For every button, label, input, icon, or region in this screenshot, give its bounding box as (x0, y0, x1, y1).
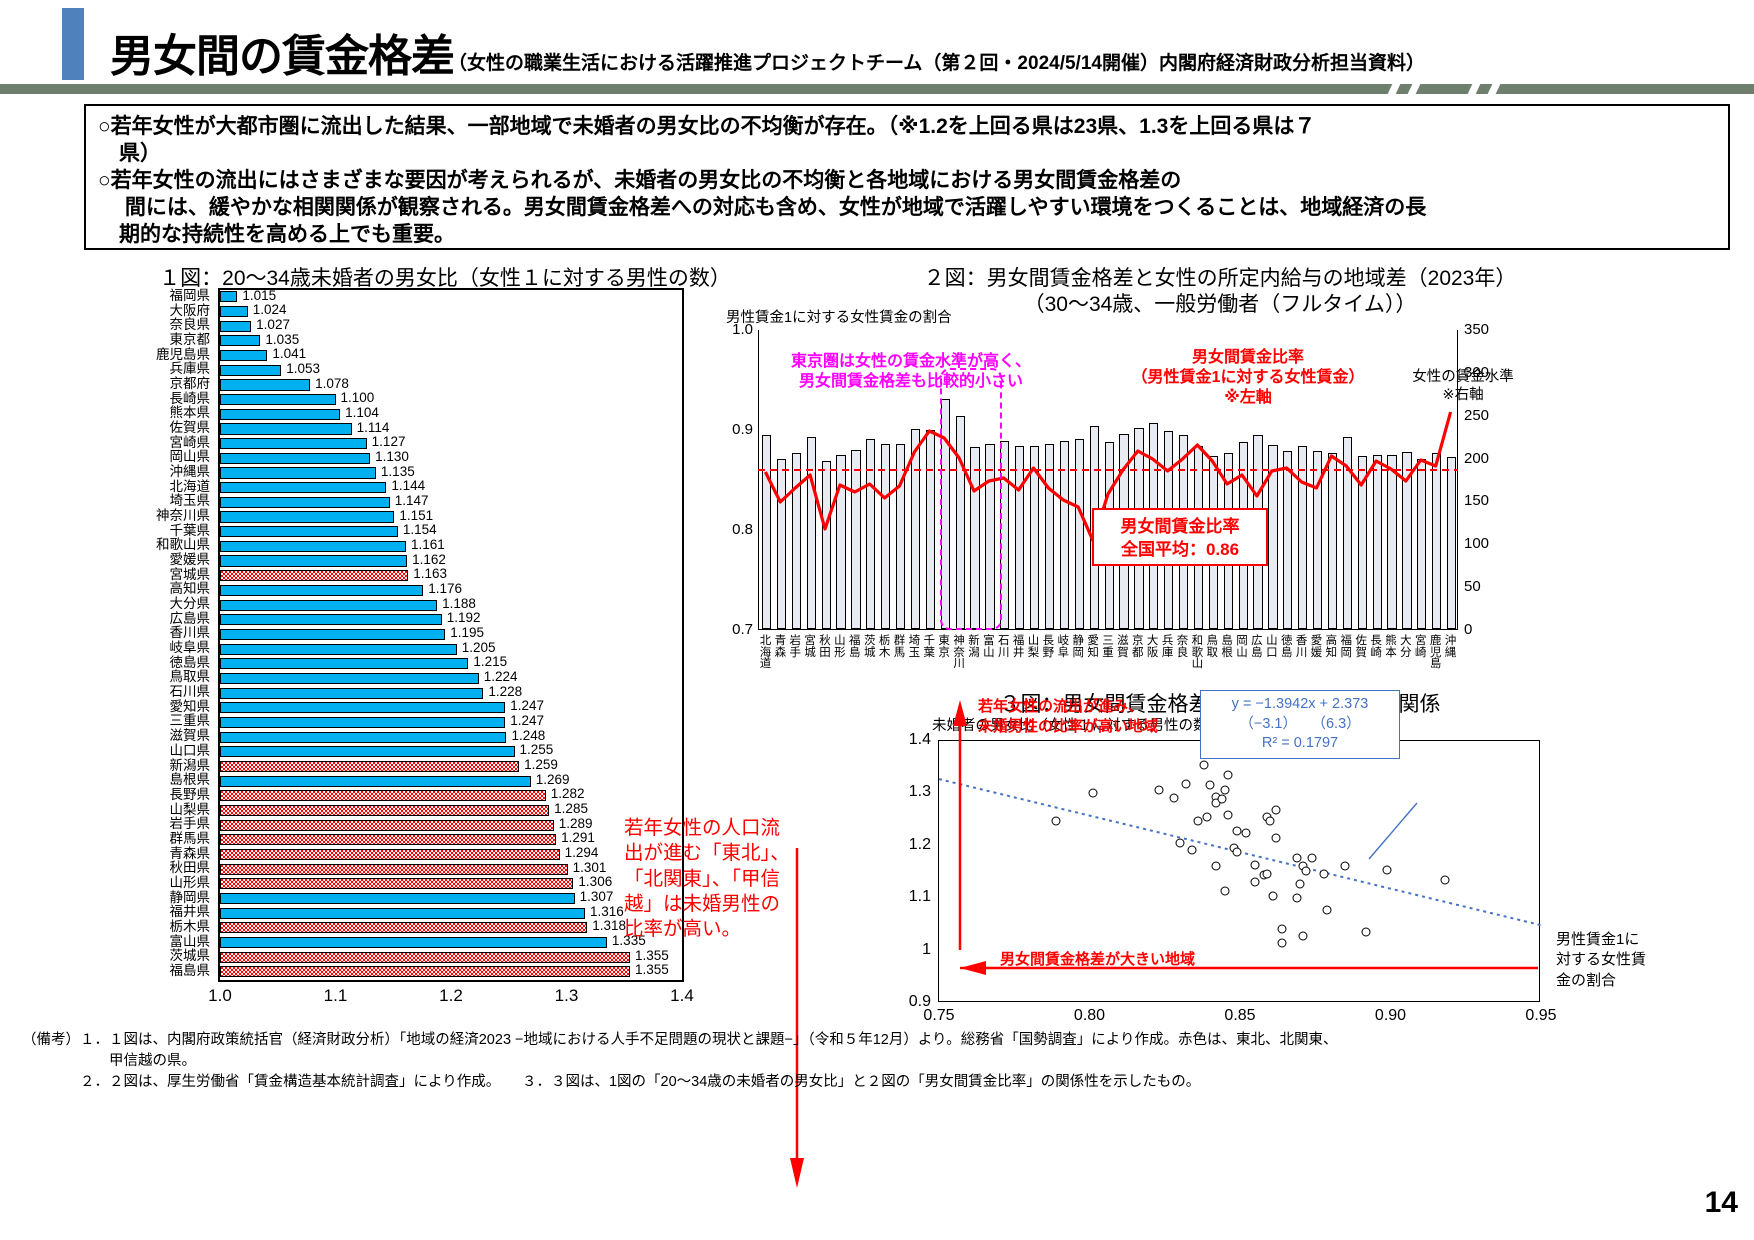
fig1-bar (220, 350, 267, 361)
fig2-x-label: 福井 (1012, 636, 1026, 659)
fig2-x-label: 島根 (1220, 636, 1234, 659)
fig1-bar (220, 482, 386, 493)
fig1-category-label: 沖縄県 (114, 465, 210, 480)
fig1-bar-row: 岡山県1.130 (220, 451, 682, 466)
fig1-bar-row: 石川県1.228 (220, 686, 682, 701)
page-title: 男女間の賃金格差 (110, 20, 454, 84)
fig3-y-tick: 1.3 (897, 783, 931, 801)
fig1-category-label: 千葉県 (114, 524, 210, 539)
fig1-chart: 福岡県1.015大阪府1.024奈良県1.027東京都1.035鹿児島県1.04… (118, 288, 688, 1003)
fig3-up-arrow (952, 700, 968, 950)
fig1-bar (220, 335, 260, 346)
fig3-data-point (1217, 795, 1226, 804)
fig3-data-point (1052, 817, 1061, 826)
fig3-data-point (1320, 869, 1329, 878)
fig2-x-label: 千葉 (922, 636, 936, 659)
fig3-right-axis-note: 男性賃金1に 対する女性賃 金の割合 (1556, 930, 1686, 991)
fig2-y-axis-label: 男性賃金1に対する女性賃金の割合 (726, 306, 952, 327)
summary-box: ○若年女性が大都市圏に流出した結果、一部地域で未婚者の男女比の不均衡が存在。（※… (84, 104, 1730, 250)
fig1-bar (220, 673, 479, 684)
fig1-bar-row: 沖縄県1.135 (220, 466, 682, 481)
fig1-bar-row: 和歌山県1.161 (220, 539, 682, 554)
fig1-x-tick: 1.1 (324, 986, 348, 1006)
fig2-right-tick: 0 (1464, 621, 1502, 638)
fig1-category-label: 岩手県 (114, 817, 210, 832)
fig1-category-label: 富山県 (114, 935, 210, 950)
fig2-x-label: 神奈川 (952, 636, 966, 671)
fig3-data-point (1251, 878, 1260, 887)
fig1-value-label: 1.269 (536, 773, 570, 788)
fig1-bar-row: 滋賀県1.248 (220, 730, 682, 745)
fig1-bar (220, 937, 607, 948)
fig3-y-tick: 1.4 (897, 731, 931, 749)
fig1-bar-row: 岩手県1.289 (220, 818, 682, 833)
fig2-x-label: 茨城 (863, 636, 877, 659)
fig1-value-label: 1.114 (357, 421, 390, 436)
fig3-x-tick: 0.95 (1525, 1007, 1556, 1025)
fig2-note-tokyo: 東京圏は女性の賃金水準が高く、 男女間賃金格差も比較的小さい (786, 352, 1036, 392)
fig1-category-label: 京都府 (114, 377, 210, 392)
fig3-data-point (1154, 785, 1163, 794)
fig3-data-point (1440, 875, 1449, 884)
fig1-value-label: 1.285 (554, 802, 588, 817)
fig1-bar-row: 青森県1.294 (220, 848, 682, 863)
fig2-x-label: 長崎 (1369, 636, 1383, 659)
fig3-data-point (1323, 905, 1332, 914)
fig1-bar-row: 群馬県1.291 (220, 833, 682, 848)
fig1-bar-row: 島根県1.269 (220, 774, 682, 789)
fig1-category-label: 福井県 (114, 905, 210, 920)
fig2-left-tick: 1.0 (717, 321, 753, 338)
fig2-x-label: 岐阜 (1056, 636, 1070, 659)
fig1-category-label: 愛媛県 (114, 553, 210, 568)
fig1-bar (220, 864, 568, 875)
fig2-x-label: 香川 (1295, 636, 1309, 659)
fig3-data-point (1187, 845, 1196, 854)
fig1-value-label: 1.224 (484, 670, 518, 685)
fig1-x-tick: 1.2 (439, 986, 463, 1006)
fig2-x-label: 徳島 (1280, 636, 1294, 659)
fig2-right-tick: 150 (1464, 492, 1502, 509)
fig1-bar-row: 佐賀県1.114 (220, 422, 682, 437)
fig1-value-label: 1.127 (372, 435, 406, 450)
fig1-bar (220, 600, 437, 611)
fig3-data-point (1278, 938, 1287, 947)
fig2-left-tick: 0.9 (717, 421, 753, 438)
summary-line-2: ○若年女性の流出にはさまざまな要因が考えられるが、未婚者の男女比の不均衡と各地域… (98, 168, 1716, 249)
header-accent-bar (62, 8, 84, 80)
fig1-category-label: 岡山県 (114, 450, 210, 465)
fig1-bar-row: 茨城県1.355 (220, 950, 682, 965)
fig1-category-label: 福岡県 (114, 289, 210, 304)
fig2-average-callout: 男女間賃金比率 全国平均：0.86 (1092, 508, 1268, 566)
fig2-x-label: 山形 (833, 636, 847, 659)
fig2-x-axis-labels: 北海道青森岩手宮城秋田山形福島茨城栃木群馬埼玉千葉東京神奈川新潟富山石川福井山梨… (758, 636, 1458, 684)
fig2-x-label: 石川 (997, 636, 1011, 659)
fig1-bar (220, 629, 445, 640)
fig2-x-label: 宮城 (803, 636, 817, 659)
fig2-x-label: 奈良 (1175, 636, 1189, 659)
fig2-x-label: 京都 (1131, 636, 1145, 659)
fig1-bar-row: 徳島県1.215 (220, 657, 682, 672)
fig2-x-label: 東京 (937, 636, 951, 659)
fig2-x-label: 秋田 (818, 636, 832, 659)
fig1-value-label: 1.100 (341, 391, 375, 406)
fig1-bar-row: 山口県1.255 (220, 745, 682, 760)
fig1-value-label: 1.147 (395, 494, 429, 509)
fig1-value-label: 1.161 (411, 538, 445, 553)
fig1-category-label: 愛知県 (114, 700, 210, 715)
footer-line-1: （備考）１．１図は、内閣府政策統括官（経済財政分析）「地域の経済2023 −地域… (22, 1030, 1722, 1051)
fig1-value-label: 1.248 (511, 729, 545, 744)
fig2-right-tick: 350 (1464, 321, 1502, 338)
fig3-data-point (1175, 839, 1184, 848)
fig1-bar (220, 908, 585, 919)
fig3-equation-box: y = −1.3942x + 2.373 （−3.1） （6.3） R² = 0… (1200, 690, 1400, 759)
fig1-category-label: 栃木県 (114, 920, 210, 935)
fig1-category-label: 徳島県 (114, 656, 210, 671)
fig1-value-label: 1.318 (592, 919, 626, 934)
fig1-value-label: 1.015 (242, 289, 276, 304)
fig1-bar (220, 570, 408, 581)
fig3-data-point (1223, 810, 1232, 819)
fig1-category-label: 岐阜県 (114, 641, 210, 656)
slide-header: 男女間の賃金格差 （女性の職業生活における活躍推進プロジェクトチーム（第２回・2… (0, 0, 1754, 92)
fig3-data-point (1242, 829, 1251, 838)
fig1-category-label: 和歌山県 (114, 538, 210, 553)
fig1-value-label: 1.205 (462, 641, 496, 656)
fig1-value-label: 1.188 (442, 597, 476, 612)
fig2-x-label: 滋賀 (1116, 636, 1130, 659)
fig2-right-tick: 200 (1464, 450, 1502, 467)
fig1-value-label: 1.192 (447, 611, 481, 626)
fig1-value-label: 1.027 (256, 318, 290, 333)
fig2-x-label: 鳥取 (1205, 636, 1219, 659)
footer-line-2: 甲信越の県。 (22, 1051, 1722, 1072)
fig1-value-label: 1.355 (635, 949, 669, 964)
fig3-x-tick: 0.75 (923, 1007, 954, 1025)
fig3-y-tick: 1 (897, 941, 931, 959)
fig1-value-label: 1.259 (524, 758, 558, 773)
fig1-bar (220, 658, 468, 669)
fig2-right-tick: 250 (1464, 407, 1502, 424)
fig2-x-label: 愛知 (1086, 636, 1100, 659)
fig1-x-tick: 1.0 (208, 986, 232, 1006)
fig1-bar (220, 776, 531, 787)
fig3-data-point (1088, 788, 1097, 797)
fig2-right-tick: 50 (1464, 578, 1502, 595)
fig1-bar (220, 893, 575, 904)
fig1-category-label: 兵庫県 (114, 362, 210, 377)
fig1-category-label: 宮崎県 (114, 436, 210, 451)
fig1-value-label: 1.104 (345, 406, 379, 421)
fig1-value-label: 1.024 (253, 303, 287, 318)
fig1-bar-row: 愛媛県1.162 (220, 554, 682, 569)
fig1-value-label: 1.255 (520, 743, 554, 758)
fig1-category-label: 神奈川県 (114, 509, 210, 524)
fig1-value-label: 1.215 (473, 655, 507, 670)
fig1-value-label: 1.306 (578, 875, 612, 890)
fig1-bar-row: 愛知県1.247 (220, 701, 682, 716)
fig3-data-point (1232, 827, 1241, 836)
fig3-data-point (1266, 816, 1275, 825)
fig1-bar (220, 644, 457, 655)
fig1-bar (220, 321, 251, 332)
fig3-y-tick: 1.2 (897, 836, 931, 854)
fig1-bar (220, 306, 248, 317)
fig1-value-label: 1.041 (272, 347, 306, 362)
fig1-bar-row: 福島県1.355 (220, 965, 682, 980)
fig2-x-label: 栃木 (878, 636, 892, 659)
fig1-category-label: 滋賀県 (114, 729, 210, 744)
fig3-data-point (1232, 848, 1241, 857)
fig2-tokyo-highlight-box (940, 368, 1002, 630)
fig3-tstats: （−3.1） （6.3） (1203, 715, 1397, 735)
fig1-down-arrow (790, 848, 804, 1188)
footer-line-3: ２．２図は、厚生労働省「賃金構造基本統計調査」により作成。 ３．３図は、1図の「… (22, 1072, 1722, 1093)
fig2-x-label: 熊本 (1384, 636, 1398, 659)
fig1-value-label: 1.053 (286, 362, 320, 377)
fig1-category-label: 山形県 (114, 876, 210, 891)
fig3-data-point (1269, 892, 1278, 901)
fig1-value-label: 1.355 (635, 963, 669, 978)
fig3-data-point (1383, 865, 1392, 874)
fig1-category-label: 青森県 (114, 847, 210, 862)
page-number: 14 (1705, 1186, 1738, 1220)
fig1-category-label: 島根県 (114, 773, 210, 788)
fig2-x-label: 大阪 (1146, 636, 1160, 659)
fig2-x-label: 三重 (1101, 636, 1115, 659)
fig1-category-label: 鹿児島県 (114, 348, 210, 363)
fig2-x-label: 愛媛 (1310, 636, 1324, 659)
fig1-category-label: 埼玉県 (114, 494, 210, 509)
fig1-bar-row: 兵庫県1.053 (220, 363, 682, 378)
fig2-x-label: 富山 (982, 636, 996, 659)
fig1-value-label: 1.035 (265, 333, 299, 348)
fig3-data-point (1263, 869, 1272, 878)
fig1-category-label: 長崎県 (114, 392, 210, 407)
fig1-category-label: 三重県 (114, 714, 210, 729)
fig1-bar (220, 511, 394, 522)
fig2-x-label: 高知 (1324, 636, 1338, 659)
fig1-bar (220, 379, 310, 390)
fig2-x-label: 埼玉 (907, 636, 921, 659)
fig2-x-label: 和歌山 (1190, 636, 1204, 671)
fig3-data-point (1220, 786, 1229, 795)
fig2-x-label: 群馬 (892, 636, 906, 659)
footer-notes: （備考）１．１図は、内閣府政策統括官（経済財政分析）「地域の経済2023 −地域… (22, 1030, 1722, 1093)
fig1-bar (220, 614, 442, 625)
fig1-bar-row: 鳥取県1.224 (220, 671, 682, 686)
fig2-x-label: 福岡 (1339, 636, 1353, 659)
summary-line-1: ○若年女性が大都市圏に流出した結果、一部地域で未婚者の男女比の不均衡が存在。（※… (98, 114, 1716, 168)
fig1-bar (220, 291, 237, 302)
fig1-value-label: 1.316 (590, 905, 624, 920)
fig3-data-point (1211, 861, 1220, 870)
fig1-category-label: 石川県 (114, 685, 210, 700)
fig1-value-label: 1.301 (573, 861, 607, 876)
fig1-bar (220, 732, 506, 743)
fig1-bar (220, 805, 549, 816)
fig1-value-label: 1.247 (510, 699, 544, 714)
fig2-x-label: 佐賀 (1354, 636, 1368, 659)
fig2-x-label: 山梨 (1027, 636, 1041, 659)
fig1-bar (220, 849, 560, 860)
fig2-left-tick: 0.7 (717, 621, 753, 638)
fig1-bar (220, 438, 367, 449)
fig3-y-tick: 1.1 (897, 888, 931, 906)
fig2-x-label: 青森 (773, 636, 787, 659)
fig2-x-label: 長野 (1041, 636, 1055, 659)
fig1-category-label: 東京都 (114, 333, 210, 348)
fig1-bar (220, 922, 587, 933)
fig2-x-label: 山口 (1265, 636, 1279, 659)
fig3-note-up: 若年女性の流出が進み、 未婚男性の比率が高い地域 (978, 697, 1158, 736)
fig2-x-label: 宮崎 (1414, 636, 1428, 659)
fig1-bar (220, 790, 546, 801)
fig2-x-label: 岡山 (1235, 636, 1249, 659)
fig1-bar (220, 820, 554, 831)
fig1-category-label: 福島県 (114, 964, 210, 979)
fig3-data-point (1169, 794, 1178, 803)
fig1-bar (220, 761, 519, 772)
fig3-x-tick: 0.85 (1224, 1007, 1255, 1025)
fig1-bar-row: 富山県1.335 (220, 936, 682, 951)
fig1-value-label: 1.144 (391, 479, 425, 494)
fig1-bar (220, 497, 390, 508)
fig3-data-point (1293, 894, 1302, 903)
fig2-x-label: 大分 (1399, 636, 1413, 659)
fig1-value-label: 1.307 (580, 890, 614, 905)
fig1-category-label: 新潟県 (114, 759, 210, 774)
fig3-data-point (1296, 880, 1305, 889)
fig2-x-label: 岩手 (788, 636, 802, 659)
fig3-r2: R² = 0.1797 (1203, 734, 1397, 754)
fig1-category-label: 山梨県 (114, 803, 210, 818)
fig1-bar-row: 熊本県1.104 (220, 407, 682, 422)
fig1-bar (220, 555, 407, 566)
fig1-category-label: 秋田県 (114, 861, 210, 876)
fig1-category-label: 大阪府 (114, 304, 210, 319)
fig3-data-point (1272, 833, 1281, 842)
fig1-bar-row: 秋田県1.301 (220, 862, 682, 877)
fig3-data-point (1302, 867, 1311, 876)
fig3-left-arrow (960, 960, 1540, 976)
fig3-data-point (1202, 812, 1211, 821)
fig1-bar (220, 409, 340, 420)
fig1-bar-row: 岐阜県1.205 (220, 642, 682, 657)
fig1-category-label: 熊本県 (114, 406, 210, 421)
fig3-data-point (1205, 781, 1214, 790)
fig1-bar (220, 453, 370, 464)
fig1-bar (220, 526, 398, 537)
fig1-bar (220, 717, 505, 728)
fig1-value-label: 1.162 (412, 553, 446, 568)
fig1-bar-row: 長崎県1.100 (220, 393, 682, 408)
fig1-value-label: 1.289 (559, 817, 593, 832)
fig1-bar-row: 三重県1.247 (220, 715, 682, 730)
fig1-bar (220, 365, 281, 376)
fig3-data-point (1199, 760, 1208, 769)
fig1-category-label: 北海道 (114, 480, 210, 495)
fig1-bar (220, 834, 556, 845)
fig3-data-point (1278, 925, 1287, 934)
fig1-value-label: 1.135 (381, 465, 415, 480)
fig1-value-label: 1.130 (375, 450, 409, 465)
fig1-value-label: 1.176 (428, 582, 462, 597)
fig3-equation: y = −1.3942x + 2.373 (1203, 695, 1397, 715)
fig1-category-label: 奈良県 (114, 318, 210, 333)
fig1-category-label: 長野県 (114, 788, 210, 803)
fig3-data-point (1251, 861, 1260, 870)
fig1-bar (220, 467, 376, 478)
fig1-annotation: 若年女性の人口流出が進む「東北」、「北関東」、「甲信越」は未婚男性の比率が高い。 (624, 816, 796, 943)
fig2-x-label: 兵庫 (1161, 636, 1175, 659)
fig3-data-point (1362, 928, 1371, 937)
fig1-value-label: 1.228 (488, 685, 522, 700)
fig2-right-tick: 100 (1464, 535, 1502, 552)
fig1-category-label: 山口県 (114, 744, 210, 759)
fig1-value-label: 1.282 (551, 787, 585, 802)
fig1-category-label: 群馬県 (114, 832, 210, 847)
fig1-bar (220, 394, 336, 405)
fig1-value-label: 1.247 (510, 714, 544, 729)
fig1-value-label: 1.195 (450, 626, 484, 641)
fig2-x-label: 沖縄 (1444, 636, 1458, 659)
fig1-category-label: 茨城県 (114, 949, 210, 964)
fig1-bar (220, 746, 515, 757)
fig1-value-label: 1.291 (561, 831, 595, 846)
fig1-bar-row: 福岡県1.015 (220, 290, 682, 305)
fig1-category-label: 大分県 (114, 597, 210, 612)
fig1-value-label: 1.078 (315, 377, 349, 392)
fig3-data-point (1272, 805, 1281, 814)
header-divider (0, 84, 1754, 94)
fig1-bar (220, 966, 630, 977)
fig2-note-ratio: 男女間賃金比率 （男性賃金1に対する女性賃金） ※左軸 (1128, 348, 1368, 408)
fig1-x-tick: 1.3 (555, 986, 579, 1006)
fig1-bar (220, 702, 505, 713)
fig3-data-point (1223, 771, 1232, 780)
fig1-value-label: 1.163 (413, 567, 447, 582)
fig1-x-tick: 1.4 (670, 986, 694, 1006)
fig1-category-label: 高知県 (114, 582, 210, 597)
fig1-category-label: 鳥取県 (114, 670, 210, 685)
fig1-category-label: 広島県 (114, 612, 210, 627)
fig3-data-point (1341, 862, 1350, 871)
fig1-bar-row: 香川県1.195 (220, 627, 682, 642)
fig2-x-label: 広島 (1250, 636, 1264, 659)
fig1-bar-row: 山梨県1.285 (220, 804, 682, 819)
fig1-bar-row: 神奈川県1.151 (220, 510, 682, 525)
fig1-category-label: 香川県 (114, 626, 210, 641)
fig2-x-label: 北海道 (758, 636, 772, 671)
fig3-x-tick: 0.90 (1375, 1007, 1406, 1025)
fig3-data-point (1181, 779, 1190, 788)
fig1-category-label: 佐賀県 (114, 421, 210, 436)
fig1-value-label: 1.151 (399, 509, 433, 524)
fig1-bar (220, 688, 483, 699)
fig2-left-tick: 0.8 (717, 521, 753, 538)
fig2-x-label: 静岡 (1071, 636, 1085, 659)
fig1-category-label: 静岡県 (114, 891, 210, 906)
fig3-data-point (1220, 886, 1229, 895)
fig2-x-label: 新潟 (967, 636, 981, 659)
fig1-bar-row: 長野県1.282 (220, 789, 682, 804)
fig1-bar (220, 878, 573, 889)
fig3-data-point (1308, 854, 1317, 863)
fig1-value-label: 1.294 (565, 846, 599, 861)
